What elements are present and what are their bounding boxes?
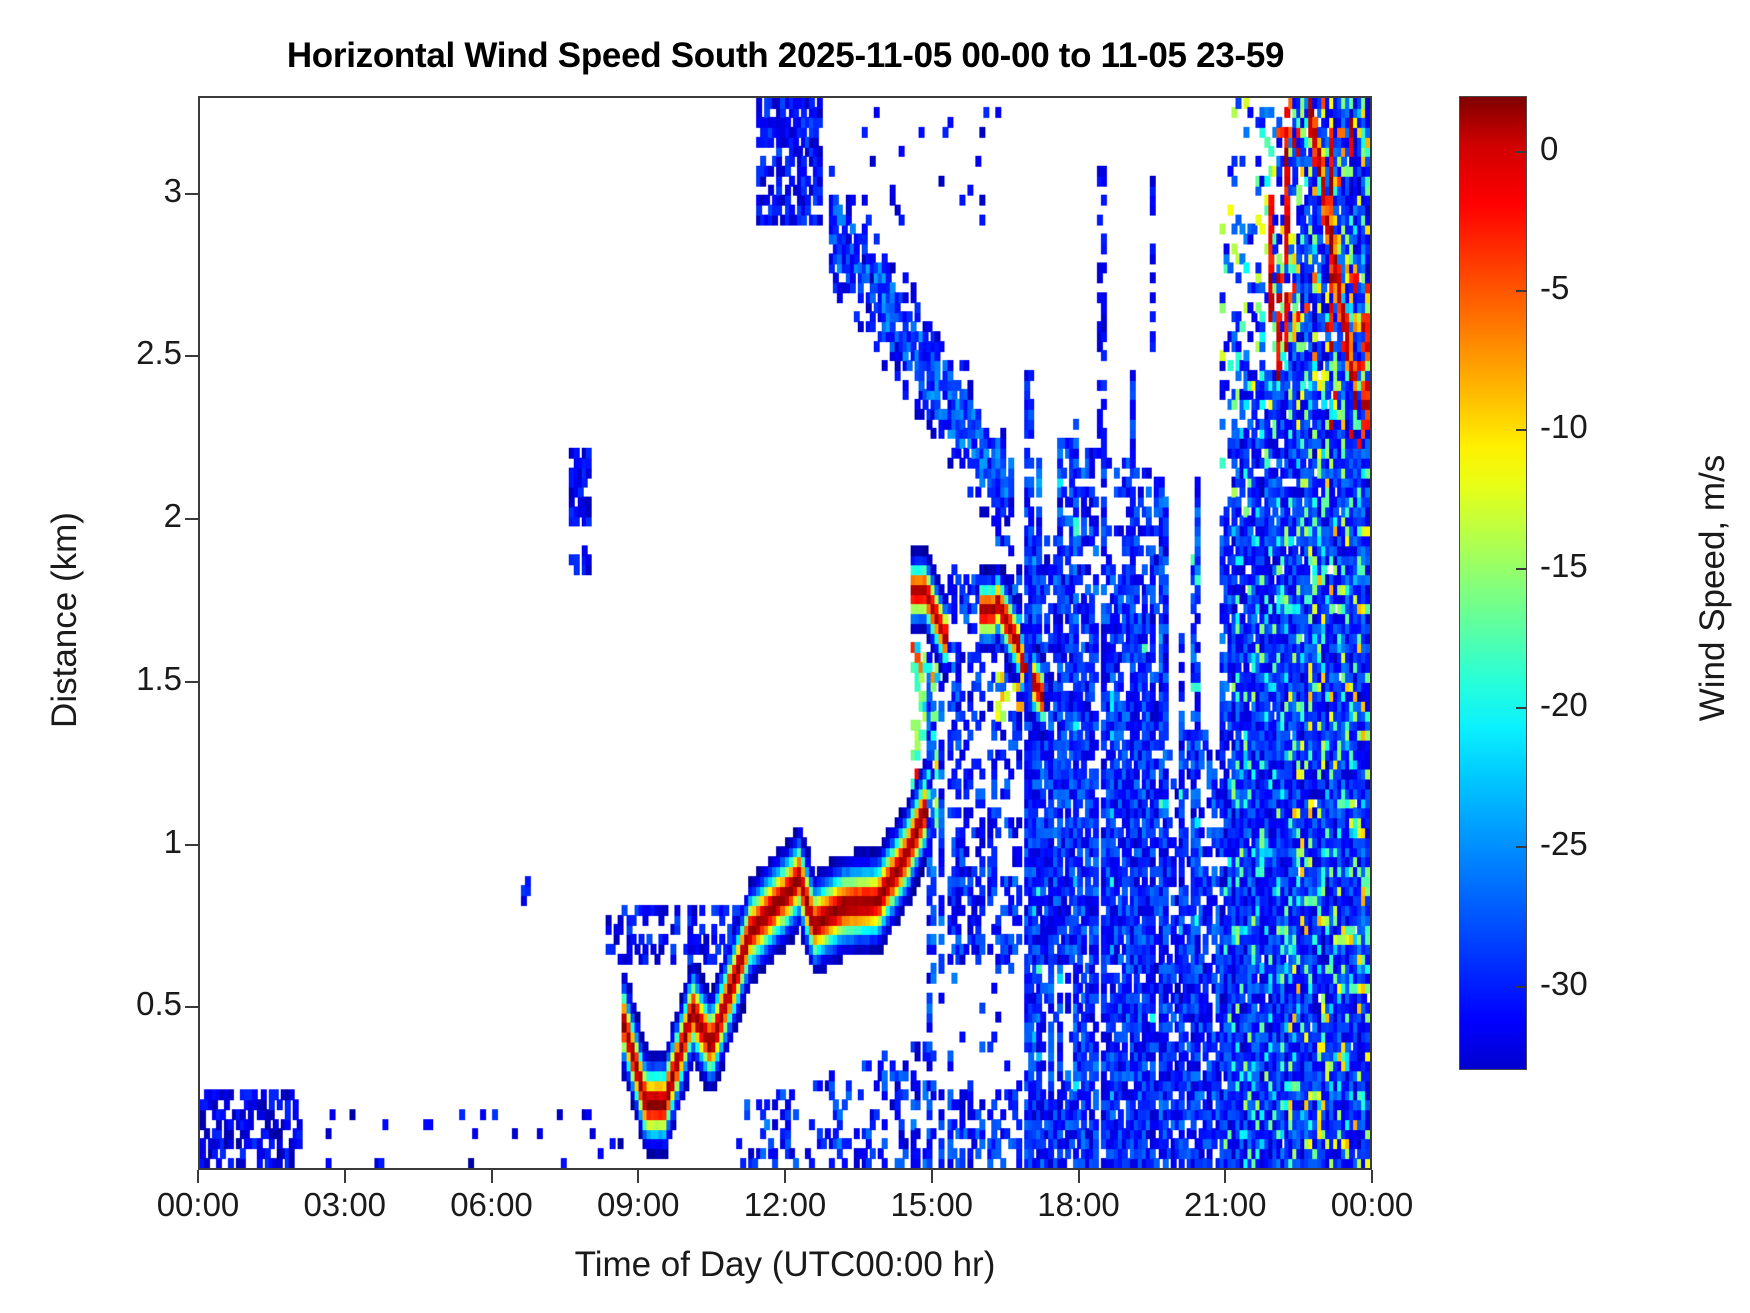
x-tick-mark	[1078, 1170, 1080, 1183]
colorbar-tick-label: -25	[1540, 825, 1588, 863]
colorbar-tick-mark	[1516, 290, 1527, 292]
colorbar-tick-label: -20	[1540, 686, 1588, 724]
y-tick-mark	[185, 681, 198, 683]
colorbar-tick-mark	[1516, 846, 1527, 848]
y-tick-label: 3	[22, 172, 182, 210]
page-title: Horizontal Wind Speed South 2025-11-05 0…	[198, 36, 1373, 76]
y-axis-label: Distance (km)	[45, 270, 85, 970]
colorbar-label: Wind Speed, m/s	[1693, 238, 1733, 938]
colorbar-tick-label: -10	[1540, 408, 1588, 446]
y-tick-mark	[185, 193, 198, 195]
x-tick-mark	[784, 1170, 786, 1183]
x-tick-mark	[931, 1170, 933, 1183]
x-axis-label: Time of Day (UTC00:00 hr)	[198, 1245, 1372, 1285]
x-tick-label: 00:00	[1282, 1186, 1462, 1224]
colorbar-tick-mark	[1516, 568, 1527, 570]
x-tick-mark	[1224, 1170, 1226, 1183]
wind-speed-heatmap[interactable]	[200, 98, 1370, 1168]
y-tick-mark	[185, 1006, 198, 1008]
colorbar-gradient[interactable]	[1459, 96, 1527, 1070]
y-tick-mark	[185, 518, 198, 520]
colorbar-tick-label: 0	[1540, 130, 1558, 168]
colorbar-tick-mark	[1516, 707, 1527, 709]
colorbar-tick-label: -15	[1540, 547, 1588, 585]
x-tick-mark	[1371, 1170, 1373, 1183]
x-tick-mark	[491, 1170, 493, 1183]
y-tick-mark	[185, 355, 198, 357]
colorbar-tick-label: -5	[1540, 269, 1569, 307]
x-tick-mark	[637, 1170, 639, 1183]
y-tick-mark	[185, 844, 198, 846]
colorbar-tick-label: -30	[1540, 965, 1588, 1003]
colorbar-tick-mark	[1516, 986, 1527, 988]
heatmap-axes[interactable]	[198, 96, 1372, 1170]
colorbar-tick-mark	[1516, 429, 1527, 431]
x-tick-mark	[344, 1170, 346, 1183]
figure-canvas: Horizontal Wind Speed South 2025-11-05 0…	[0, 0, 1750, 1313]
x-tick-mark	[197, 1170, 199, 1183]
colorbar-tick-mark	[1516, 151, 1527, 153]
y-tick-label: 0.5	[22, 985, 182, 1023]
